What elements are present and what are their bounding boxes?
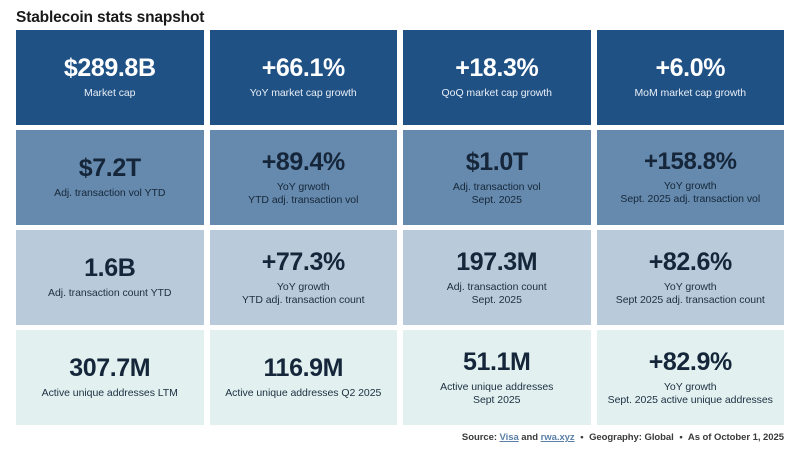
stat-value: +66.1% — [262, 55, 345, 82]
stat-label-line-1: Adj. transaction vol — [453, 181, 541, 194]
stat-label-line-1: Adj. transaction count — [447, 281, 547, 294]
stat-card-active-unique-addresses-q2-2025: 116.9M Active unique addresses Q2 2025 — [210, 330, 398, 425]
stat-label-line-1: YoY growth — [616, 281, 765, 294]
stat-label: Adj. transaction count YTD — [48, 287, 171, 300]
stat-card-yoy-growth-ytd-adj-transaction-vol: +89.4% YoY grwoth YTD adj. transaction v… — [210, 130, 398, 225]
stat-card-active-unique-addresses-ltm: 307.7M Active unique addresses LTM — [16, 330, 204, 425]
page-title: Stablecoin stats snapshot — [16, 0, 784, 30]
stat-value: +89.4% — [262, 149, 345, 176]
stat-card-active-unique-addresses-sept-2025: 51.1M Active unique addresses Sept 2025 — [403, 330, 591, 425]
stat-card-adj-transaction-vol-ytd: $7.2T Adj. transaction vol YTD — [16, 130, 204, 225]
stat-label-line-1: YoY growth — [242, 281, 364, 294]
stat-card-market-cap: $289.8B Market cap — [16, 30, 204, 125]
stat-label: YoY growth YTD adj. transaction count — [242, 281, 364, 307]
stat-value: 51.1M — [463, 349, 530, 376]
stat-label: Active unique addresses LTM — [42, 387, 178, 400]
stat-card-yoy-growth-sept-2025-active-unique-addresses: +82.9% YoY growth Sept. 2025 active uniq… — [597, 330, 785, 425]
source-conjunction: and — [521, 432, 538, 443]
stat-label: Adj. transaction count Sept. 2025 — [447, 281, 547, 307]
stat-card-mom-market-cap-growth: +6.0% MoM market cap growth — [597, 30, 785, 125]
separator-bullet-1: • — [577, 432, 586, 443]
stat-label: Market cap — [84, 87, 135, 100]
stat-label-line-2: YTD adj. transaction vol — [248, 194, 358, 207]
stat-value: +6.0% — [655, 55, 725, 82]
stat-label: MoM market cap growth — [634, 87, 746, 100]
stat-label: Adj. transaction vol Sept. 2025 — [453, 181, 541, 207]
separator-bullet-2: • — [676, 432, 685, 443]
stat-value: $289.8B — [64, 55, 156, 82]
geography-note: Geography: Global — [589, 432, 674, 443]
stat-value: +82.6% — [649, 249, 732, 276]
stat-label: Active unique addresses Q2 2025 — [225, 387, 381, 400]
stat-label-line-2: Sept. 2025 active unique addresses — [608, 394, 773, 407]
source-link-visa[interactable]: Visa — [500, 432, 519, 443]
stat-label-line-1: YoY growth — [608, 381, 773, 394]
stat-label-line-2: Sept. 2025 — [453, 194, 541, 207]
source-link-rwaxyz[interactable]: rwa.xyz — [541, 432, 575, 443]
as-of-date: As of October 1, 2025 — [688, 432, 784, 443]
stat-value: $7.2T — [79, 155, 141, 182]
stat-label-line-2: Sept. 2025 adj. transaction vol — [620, 193, 760, 206]
stat-snapshot-page: Stablecoin stats snapshot $289.8B Market… — [0, 0, 800, 451]
stat-label-line-2: Sept 2025 adj. transaction count — [616, 294, 765, 307]
stat-label: QoQ market cap growth — [442, 87, 552, 100]
stat-value: 116.9M — [263, 355, 343, 382]
stat-label: Adj. transaction vol YTD — [54, 187, 165, 200]
stat-label-line-2: Sept 2025 — [440, 394, 553, 407]
stat-label-line-2: YTD adj. transaction count — [242, 294, 364, 307]
source-prefix: Source: — [462, 432, 497, 443]
stat-label-line-1: YoY growth — [620, 180, 760, 193]
stat-value: +18.3% — [455, 55, 538, 82]
stat-card-adj-transaction-count-ytd: 1.6B Adj. transaction count YTD — [16, 230, 204, 325]
stats-grid: $289.8B Market cap +66.1% YoY market cap… — [16, 30, 784, 425]
stat-label: YoY growth Sept. 2025 active unique addr… — [608, 381, 773, 407]
stat-value: +158.8% — [644, 149, 737, 175]
stat-label: YoY grwoth YTD adj. transaction vol — [248, 181, 358, 207]
stat-card-qoq-market-cap-growth: +18.3% QoQ market cap growth — [403, 30, 591, 125]
stat-value: $1.0T — [466, 149, 528, 176]
stat-label-line-2: Sept. 2025 — [447, 294, 547, 307]
stat-card-yoy-growth-ytd-adj-transaction-count: +77.3% YoY growth YTD adj. transaction c… — [210, 230, 398, 325]
stat-label-line-1: YoY grwoth — [248, 181, 358, 194]
stat-value: +77.3% — [262, 249, 345, 276]
stat-value: 1.6B — [84, 255, 135, 282]
stat-label: Active unique addresses Sept 2025 — [440, 381, 553, 407]
stat-label: YoY growth Sept. 2025 adj. transaction v… — [620, 180, 760, 206]
stat-card-yoy-market-cap-growth: +66.1% YoY market cap growth — [210, 30, 398, 125]
stat-label: YoY market cap growth — [250, 87, 357, 100]
stat-value: 307.7M — [69, 355, 150, 382]
stat-value: +82.9% — [649, 349, 732, 376]
stat-card-yoy-growth-sept-2025-adj-transaction-count: +82.6% YoY growth Sept 2025 adj. transac… — [597, 230, 785, 325]
stat-card-yoy-growth-sept-2025-adj-transaction-vol: +158.8% YoY growth Sept. 2025 adj. trans… — [597, 130, 785, 225]
stat-label: YoY growth Sept 2025 adj. transaction co… — [616, 281, 765, 307]
stat-label-line-1: Active unique addresses — [440, 381, 553, 394]
stat-value: 197.3M — [456, 249, 537, 276]
stat-card-adj-transaction-count-sept-2025: 197.3M Adj. transaction count Sept. 2025 — [403, 230, 591, 325]
stat-card-adj-transaction-vol-sept-2025: $1.0T Adj. transaction vol Sept. 2025 — [403, 130, 591, 225]
source-footnote: Source: Visa and rwa.xyz • Geography: Gl… — [462, 432, 784, 443]
